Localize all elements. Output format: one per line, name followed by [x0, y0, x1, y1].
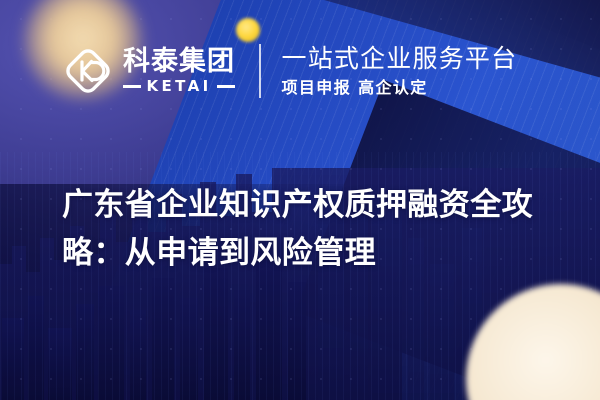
tagline-sub: 项目申报 高企认定 — [282, 78, 518, 97]
brand-name-en-row: KETAI — [123, 79, 235, 94]
brand-name-cn: 科泰集团 — [123, 48, 235, 77]
gold-dot-circle — [236, 18, 260, 42]
vertical-divider — [259, 44, 261, 98]
tagline-main: 一站式企业服务平台 — [282, 45, 518, 74]
brand-wordmark: 科泰集团 KETAI — [123, 48, 235, 94]
promo-banner: 科泰集团 KETAI 一站式企业服务平台 项目申报 高企认定 广东省企业知识产权… — [0, 0, 600, 400]
tagline-block: 一站式企业服务平台 项目申报 高企认定 — [282, 45, 518, 98]
page-title: 广东省企业知识产权质押融资全攻略：从申请到风险管理 — [62, 181, 554, 277]
wordmark-rule-left — [123, 85, 141, 88]
banner-header: 科泰集团 KETAI 一站式企业服务平台 项目申报 高企认定 — [62, 44, 517, 98]
brand-name-en: KETAI — [146, 79, 211, 94]
wordmark-rule-right — [217, 85, 235, 88]
brand-logo[interactable]: 科泰集团 KETAI — [62, 45, 235, 97]
ketai-diamond-monogram-icon — [62, 45, 114, 97]
